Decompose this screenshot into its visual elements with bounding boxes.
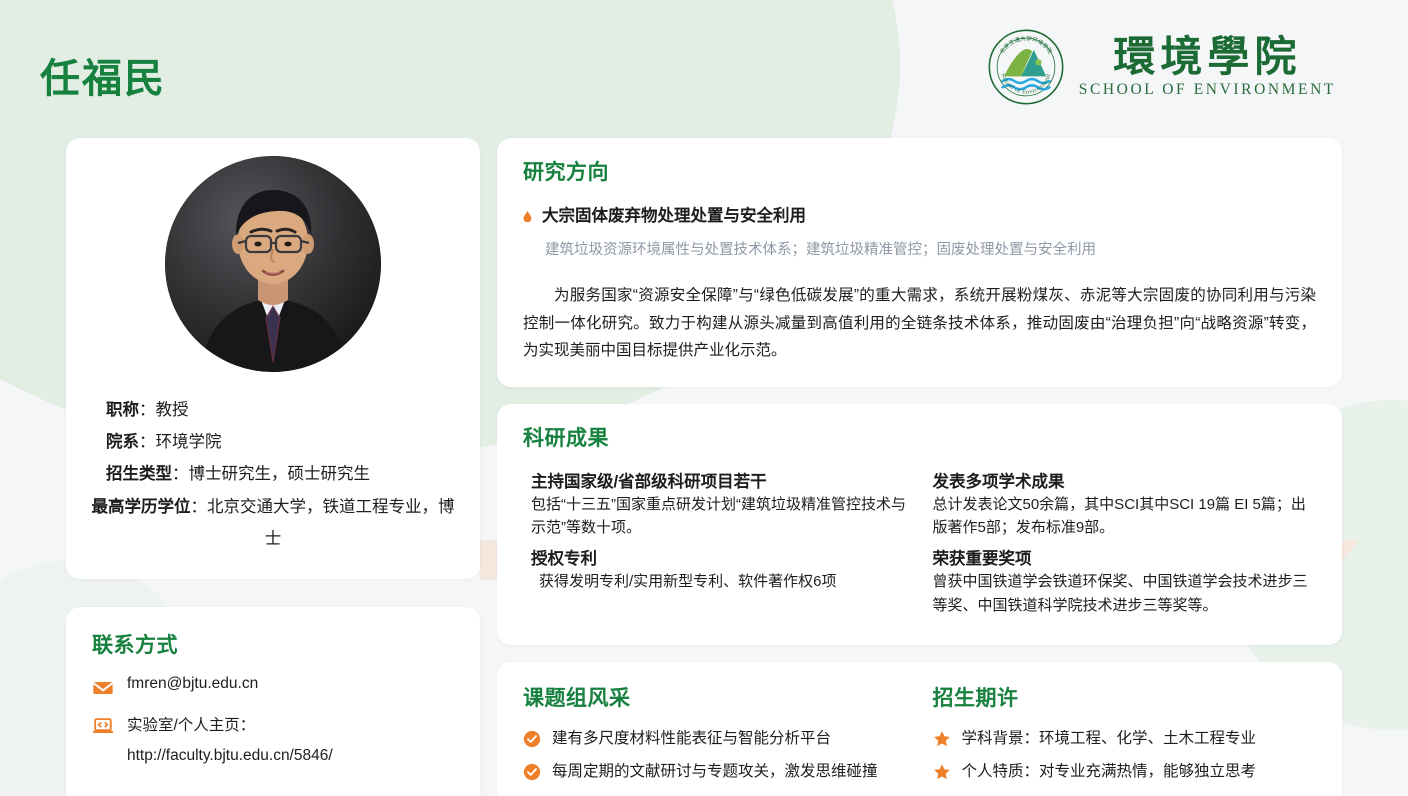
achievement-heading: 授权专利	[531, 545, 907, 569]
profile-label: 最高学历学位	[92, 498, 191, 516]
bjtu-school-of-environment-emblem-icon: 北京交通大学环境学院 School of Environment	[987, 28, 1065, 106]
left-column: 职称：教授 院系：环境学院 招生类型：博士研究生，硕士研究生 最高学历学位：北京…	[66, 138, 480, 796]
team-item-text: 每周定期的文献研讨与专题攻关，激发思维碰撞	[552, 761, 907, 783]
team-title: 课题组风采	[523, 682, 907, 712]
team-and-expectations-card: 课题组风采 建有多尺度材料性能表征与智能分析平台	[497, 662, 1342, 796]
profile-value: 北京交通大学，铁道工程专业，博士	[207, 498, 455, 548]
team-section: 课题组风采 建有多尺度材料性能表征与智能分析平台	[523, 682, 907, 796]
research-paragraph: 为服务国家“资源安全保障”与“绿色低碳发展”的重大需求，系统开展粉煤灰、赤泥等大…	[523, 282, 1316, 365]
profile-label: 招生类型	[106, 465, 172, 483]
achievement-body: 总计发表论文50余篇，其中SCI其中SCI 19篇 EI 5篇；出版著作5部；发…	[933, 493, 1317, 540]
research-direction-text: 大宗固体废弃物处理处置与安全利用	[542, 202, 806, 226]
check-circle-icon	[523, 730, 541, 748]
logo-wordmark: 環境學院 SCHOOL OF ENVIRONMENT	[1079, 35, 1336, 99]
contact-homepage-label: 实验室/个人主页：	[127, 713, 255, 735]
contact-homepage-row[interactable]: 实验室/个人主页：	[92, 713, 454, 737]
research-direction-item: 大宗固体废弃物处理处置与安全利用	[523, 202, 1316, 226]
contact-email-text: fmren@bjtu.edu.cn	[127, 675, 258, 693]
research-direction-card: 研究方向 大宗固体废弃物处理处置与安全利用 建筑垃圾资源环境属性与处置技术体系；…	[497, 138, 1342, 387]
laptop-code-icon	[92, 715, 114, 737]
research-direction-title: 研究方向	[523, 156, 1316, 186]
star-icon	[933, 763, 951, 781]
achievements-columns: 主持国家级/省部级科研项目若干 包括“十三五”国家重点研发计划“建筑垃圾精准管控…	[523, 468, 1316, 623]
bottom-columns: 课题组风采 建有多尺度材料性能表征与智能分析平台	[523, 682, 1316, 796]
research-keywords: 建筑垃圾资源环境属性与处置技术体系；建筑垃圾精准管控；固废处理处置与安全利用	[545, 239, 1316, 262]
profile-value: 教授	[156, 401, 189, 419]
profile-label: 院系	[106, 433, 139, 451]
profile-row-department: 院系：环境学院	[88, 426, 458, 458]
profile-sep: ：	[139, 433, 156, 451]
achievement-heading: 主持国家级/省部级科研项目若干	[531, 468, 907, 492]
profile-value: 博士研究生，硕士研究生	[189, 465, 371, 483]
list-item: 个人特质：对专业充满热情，能够独立思考	[933, 761, 1317, 783]
achievement-body: 获得发明专利/实用新型专利、软件著作权6项	[531, 570, 907, 593]
achievements-right-column: 发表多项学术成果 总计发表论文50余篇，其中SCI其中SCI 19篇 EI 5篇…	[933, 468, 1317, 623]
achievements-card: 科研成果 主持国家级/省部级科研项目若干 包括“十三五”国家重点研发计划“建筑垃…	[497, 404, 1342, 645]
profile-label: 职称	[106, 401, 139, 419]
achievement-heading: 荣获重要奖项	[933, 545, 1317, 569]
avatar	[165, 156, 381, 372]
logo-chinese-name: 環境學院	[1113, 35, 1301, 79]
star-icon	[933, 730, 951, 748]
logo-english-name: SCHOOL OF ENVIRONMENT	[1079, 81, 1336, 99]
profile-row-title: 职称：教授	[88, 394, 458, 426]
orange-dot-bullet-icon	[523, 209, 532, 220]
faculty-profile-page: 任福民 北京交通大学环境学院 School	[0, 0, 1408, 796]
envelope-icon	[92, 677, 114, 699]
contact-title: 联系方式	[92, 629, 454, 659]
check-circle-icon	[523, 763, 541, 781]
expectation-item-text: 个人特质：对专业充满热情，能够独立思考	[962, 761, 1317, 783]
profile-row-admission-type: 招生类型：博士研究生，硕士研究生	[88, 458, 458, 490]
achievements-left-column: 主持国家级/省部级科研项目若干 包括“十三五”国家重点研发计划“建筑垃圾精准管控…	[523, 468, 907, 623]
expectation-item-text: 学科背景：环境工程、化学、土木工程专业	[962, 728, 1317, 750]
avatar-wrapper	[88, 156, 458, 372]
expectations-section: 招生期许 学科背景：环境工程、化学、土木工程专业	[933, 682, 1317, 796]
profile-row-highest-degree: 最高学历学位：北京交通大学，铁道工程专业，博士	[88, 491, 458, 555]
list-item: 学科背景：环境工程、化学、土木工程专业	[933, 728, 1317, 750]
profile-card: 职称：教授 院系：环境学院 招生类型：博士研究生，硕士研究生 最高学历学位：北京…	[66, 138, 480, 579]
achievement-body: 包括“十三五”国家重点研发计划“建筑垃圾精准管控技术与示范”等数十项。	[531, 493, 907, 540]
contact-email-row[interactable]: fmren@bjtu.edu.cn	[92, 675, 454, 699]
school-logo: 北京交通大学环境学院 School of Environment 環境學院 SC…	[987, 28, 1336, 106]
achievements-title: 科研成果	[523, 422, 1316, 452]
contact-card: 联系方式 fmren@bjtu.edu.cn	[66, 607, 480, 796]
profile-sep: ：	[172, 465, 189, 483]
contact-homepage-url[interactable]: http://faculty.bjtu.edu.cn/5846/	[127, 747, 454, 765]
portrait-illustration	[165, 156, 381, 372]
list-item: 每周定期的文献研讨与专题攻关，激发思维碰撞	[523, 761, 907, 783]
page-title: 任福民	[40, 46, 166, 104]
profile-value: 环境学院	[156, 433, 222, 451]
achievement-heading: 发表多项学术成果	[933, 468, 1317, 492]
team-item-text: 建有多尺度材料性能表征与智能分析平台	[552, 728, 907, 750]
achievement-body: 曾获中国铁道学会铁道环保奖、中国铁道学会技术进步三等奖、中国铁道科学院技术进步三…	[933, 570, 1317, 617]
profile-info-list: 职称：教授 院系：环境学院 招生类型：博士研究生，硕士研究生 最高学历学位：北京…	[88, 394, 458, 555]
expectations-title: 招生期许	[933, 682, 1317, 712]
profile-sep: ：	[139, 401, 156, 419]
right-column: 研究方向 大宗固体废弃物处理处置与安全利用 建筑垃圾资源环境属性与处置技术体系；…	[497, 138, 1342, 796]
profile-sep: ：	[191, 498, 208, 516]
page-header: 任福民 北京交通大学环境学院 School	[0, 0, 1408, 130]
list-item: 建有多尺度材料性能表征与智能分析平台	[523, 728, 907, 750]
